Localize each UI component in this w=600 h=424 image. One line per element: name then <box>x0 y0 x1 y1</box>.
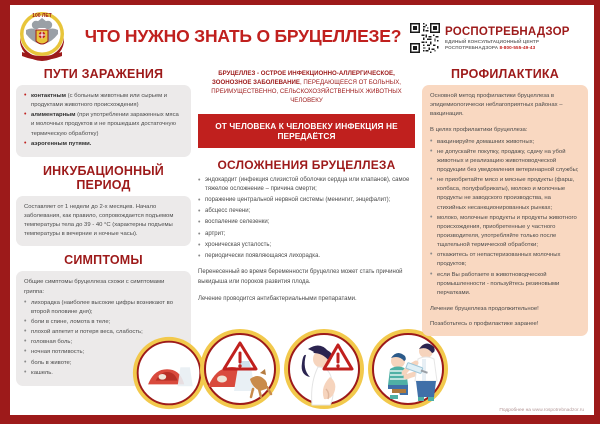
complications-block: эндокардит (инфекция слизистой оболочки … <box>198 176 415 305</box>
panel-incubation: Составляет от 1 недели до 2-х месяцев. Н… <box>16 196 191 247</box>
brand-block: РОСПОТРЕБНАДЗОР ЕДИНЫЙ КОНСУЛЬТАЦИОННЫЙ … <box>410 19 588 53</box>
section-title-symptoms: СИМПТОМЫ <box>16 253 191 267</box>
list-item: лихорадка (наиболее высокие цифры возник… <box>24 299 183 317</box>
hotline-phone[interactable]: 8-800-555-49-43 <box>500 45 536 50</box>
treatment-note: Лечение проводится антибактериальными пр… <box>198 295 415 305</box>
column-left: ПУТИ ЗАРАЖЕНИЯ контактным (с больным жив… <box>16 67 191 415</box>
brand-subtitle-org: РОСПОТРЕБНАДЗОРА <box>445 45 498 50</box>
prevention-list-lead: В целях профилактики бруцеллеза: <box>430 126 580 135</box>
brand-name: РОСПОТРЕБНАДЗОР <box>445 26 570 39</box>
rospotrebnadzor-emblem-icon: 100 ЛЕТ <box>14 8 70 64</box>
transmission-term: контактным <box>31 93 66 99</box>
illustration-row <box>198 319 415 411</box>
section-title-complications: ОСЛОЖНЕНИЯ БРУЦЕЛЛЕЗА <box>198 158 415 172</box>
list-item: не допускайте покупку, продажу, сдачу на… <box>430 148 580 175</box>
list-item: периодически появляющаяся лихорадка. <box>198 252 415 262</box>
emblem-anniversary-label: 100 ЛЕТ <box>32 13 52 19</box>
pregnancy-note: Перенесенный во время беременности бруце… <box>198 268 415 287</box>
disease-definition: БРУЦЕЛЛЕЗ - ОСТРОЕ ИНФЕКЦИОННО-АЛЛЕРГИЧЕ… <box>198 67 415 106</box>
list-item: аэрогенным путями. <box>24 140 183 149</box>
panel-transmission: контактным (с больным животным или сырье… <box>16 85 191 157</box>
brand-subtitle-line2: РОСПОТРЕБНАДЗОРА 8-800-555-49-43 <box>445 45 570 50</box>
section-title-prevention: ПРОФИЛАКТИКА <box>422 67 588 81</box>
note-treatment-duration: Лечение бруцеллеза продолжительное! <box>430 305 580 314</box>
list-item: не приобретайте мясо и мясные продукты (… <box>430 176 580 213</box>
list-item: поражение центральной нервной системы (м… <box>198 196 415 206</box>
list-item: алиментарным (при употреблении зараженны… <box>24 111 183 138</box>
incubation-text: Составляет от 1 недели до 2-х месяцев. Н… <box>24 203 183 240</box>
illustration-raw-meat-circle <box>131 335 207 411</box>
list-item: молоко, молочные продукты и продукты жив… <box>430 214 580 251</box>
transmission-term: алиментарным <box>31 112 76 118</box>
footer-site-link[interactable]: www.rospotrebnadzor.ru <box>532 408 584 413</box>
complications-list: эндокардит (инфекция слизистой оболочки … <box>198 176 415 262</box>
list-item: вакцинируйте домашних животных; <box>430 138 580 147</box>
brand-text: РОСПОТРЕБНАДЗОР ЕДИНЫЙ КОНСУЛЬТАЦИОННЫЙ … <box>445 26 570 50</box>
panel-prevention: Основной метод профилактики бруцеллеза в… <box>422 85 588 336</box>
transmission-list: контактным (с больным животным или сырье… <box>24 92 183 149</box>
column-right: ПРОФИЛАКТИКА Основной метод профилактики… <box>422 67 588 415</box>
poster-sheet: 100 ЛЕТ ЧТО НУЖНО ЗНАТЬ О БРУЦЕЛЛЕЗЕ? <box>10 5 594 415</box>
list-item: хроническая усталость; <box>198 241 415 251</box>
poster-root: 100 ЛЕТ ЧТО НУЖНО ЗНАТЬ О БРУЦЕЛЛЕЗЕ? <box>0 0 600 424</box>
prevention-intro: Основной метод профилактики бруцеллеза в… <box>430 92 580 119</box>
column-middle: БРУЦЕЛЛЕЗ - ОСТРОЕ ИНФЕКЦИОННО-АЛЛЕРГИЧЕ… <box>198 67 415 415</box>
list-item: артрит; <box>198 230 415 240</box>
footer-text: Подробнее на <box>499 408 532 413</box>
list-item: боли в спине, ломота в теле; <box>24 318 183 327</box>
illustration-raw-products-warning <box>198 327 282 411</box>
list-item: абсцесс печени; <box>198 207 415 217</box>
note-prevention-advance: Позаботьтесь о профилактике заранее! <box>430 320 580 329</box>
banner-no-human-transmission: ОТ ЧЕЛОВЕКА К ЧЕЛОВЕКУ ИНФЕКЦИЯ НЕ ПЕРЕД… <box>198 114 415 148</box>
footer-note: Подробнее на www.rospotrebnadzor.ru <box>499 408 584 413</box>
section-title-incubation: ИНКУБАЦИОННЫЙ ПЕРИОД <box>16 164 191 192</box>
illustration-pregnancy-warning <box>282 327 366 411</box>
section-title-transmission: ПУТИ ЗАРАЖЕНИЯ <box>16 67 191 81</box>
qr-code-icon <box>410 23 440 53</box>
list-item: контактным (с больным животным или сырье… <box>24 92 183 110</box>
symptoms-lead: Общие симптомы бруцеллеза схожи с симпто… <box>24 278 183 296</box>
list-item: если Вы работаете в животноводческой про… <box>430 271 580 298</box>
list-item: откажитесь от непастеризованных молочных… <box>430 251 580 269</box>
poster-header: 100 ЛЕТ ЧТО НУЖНО ЗНАТЬ О БРУЦЕЛЛЕЗЕ? <box>10 5 594 67</box>
poster-columns: ПУТИ ЗАРАЖЕНИЯ контактным (с больным жив… <box>10 67 594 415</box>
list-item: воспаление селезенки; <box>198 218 415 228</box>
list-item: эндокардит (инфекция слизистой оболочки … <box>198 176 415 195</box>
page-title: ЧТО НУЖНО ЗНАТЬ О БРУЦЕЛЛЕЗЕ? <box>70 26 410 47</box>
prevention-list: вакцинируйте домашних животных; не допус… <box>430 138 580 298</box>
transmission-term: аэрогенным путями. <box>31 141 91 147</box>
